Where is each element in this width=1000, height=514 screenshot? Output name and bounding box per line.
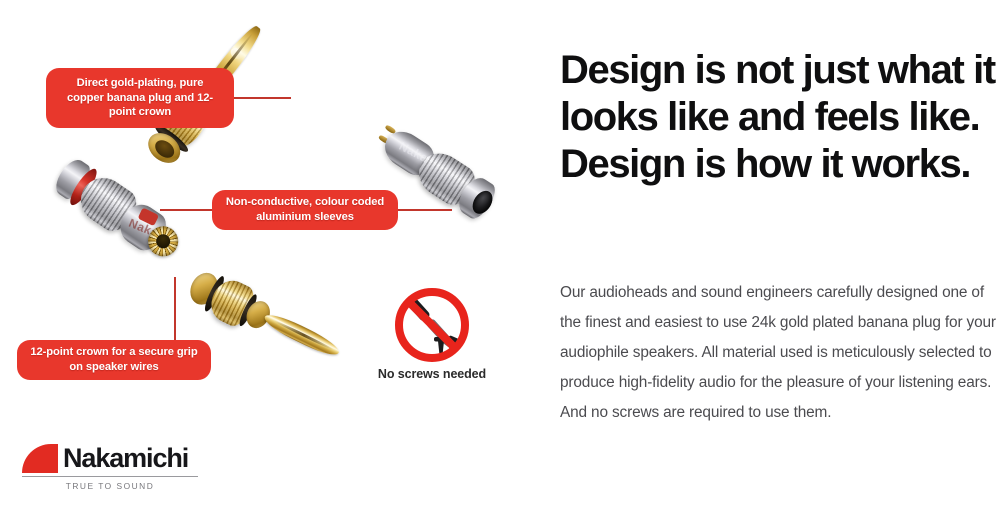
no-screws-group: No screws needed	[372, 285, 492, 385]
logo-divider	[22, 476, 198, 477]
product-image-panel: Naka Naka Direct gold-platin	[0, 0, 540, 514]
product-banana-plug-bottom	[190, 272, 360, 392]
callout-leader-gold-plating	[233, 97, 291, 99]
callout-crown-grip[interactable]: 12-point crown for a secure grip on spea…	[17, 340, 211, 380]
product-banana-plug-top	[232, 28, 392, 158]
marketing-text-panel: Design is not just what it looks like an…	[560, 0, 1000, 514]
nakamichi-wordmark: Nakamichi	[63, 444, 188, 473]
callout-gold-plating-text: Direct gold-plating, pure copper banana …	[58, 76, 222, 120]
callout-leader-sleeves-left	[160, 209, 213, 211]
plug2-pin-slot	[274, 319, 335, 351]
callout-sleeves-text: Non-conductive, colour coded aluminium s…	[224, 195, 386, 224]
callout-sleeves[interactable]: Non-conductive, colour coded aluminium s…	[212, 190, 398, 230]
nakamichi-tagline: TRUE TO SOUND	[22, 481, 198, 491]
nakamichi-logo-mark	[22, 444, 58, 473]
product-connector-silver: Naka	[378, 128, 528, 258]
callout-leader-crown-grip	[174, 277, 176, 341]
callout-gold-plating[interactable]: Direct gold-plating, pure copper banana …	[46, 68, 234, 128]
nakamichi-logo: Nakamichi TRUE TO SOUND	[22, 444, 198, 491]
callout-leader-sleeves-right	[397, 209, 452, 211]
no-screws-label: No screws needed	[372, 367, 492, 381]
callout-crown-grip-text: 12-point crown for a secure grip on spea…	[29, 345, 199, 374]
prohibition-screwdriver-icon	[372, 285, 492, 367]
headline: Design is not just what it looks like an…	[560, 47, 1000, 188]
body-copy: Our audioheads and sound engineers caref…	[560, 278, 1000, 428]
